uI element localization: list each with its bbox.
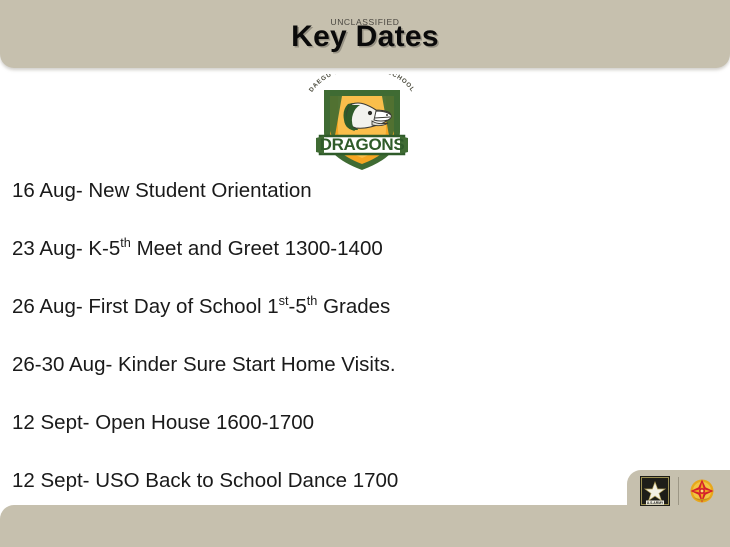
dragons-shield-graphic: DRAGONS (302, 74, 422, 174)
agency-badges-panel: U.S.ARMY (627, 470, 730, 512)
list-item: 16 Aug- New Student Orientation (12, 178, 632, 236)
list-item: 26-30 Aug- Kinder Sure Start Home Visits… (12, 352, 632, 410)
badge-divider (678, 477, 679, 505)
date-line-mid: -5 (289, 295, 307, 318)
slide-header-band: Key Dates (0, 0, 730, 68)
list-item: 26 Aug- First Day of School 1st-5th Grad… (12, 294, 632, 352)
key-dates-list: 16 Aug- New Student Orientation 23 Aug- … (12, 178, 632, 526)
school-logo: DAEGU ELEMENTARY SCHOOL (302, 74, 422, 174)
date-line-text: 23 Aug- K-5 (12, 237, 120, 260)
date-line-sup2: th (307, 293, 318, 308)
date-line-text: 12 Sept- Open House 1600-1700 (12, 411, 314, 434)
list-item: 12 Sept- Open House 1600-1700 (12, 410, 632, 468)
date-line-sup1: st (279, 293, 289, 308)
date-line-sup1: th (120, 235, 131, 250)
date-line-text: 12 Sept- USO Back to School Dance 1700 (12, 469, 398, 492)
date-line-text: 26-30 Aug- Kinder Sure Start Home Visits… (12, 353, 396, 376)
us-army-star-label: U.S.ARMY (647, 501, 664, 505)
us-army-star-icon: U.S.ARMY (640, 476, 670, 506)
date-line-text: 26 Aug- First Day of School 1 (12, 295, 279, 318)
dragons-banner-label: DRAGONS (320, 135, 405, 154)
imcom-crest-icon (687, 476, 717, 506)
classification-label: UNCLASSIFIED (0, 17, 730, 27)
list-item: 23 Aug- K-5th Meet and Greet 1300-1400 (12, 236, 632, 294)
date-line-suffix: Grades (317, 295, 390, 318)
date-line-mid: Meet and Greet 1300-1400 (131, 237, 383, 260)
date-line-text: 16 Aug- New Student Orientation (12, 179, 312, 202)
slide-footer-band (0, 505, 730, 547)
